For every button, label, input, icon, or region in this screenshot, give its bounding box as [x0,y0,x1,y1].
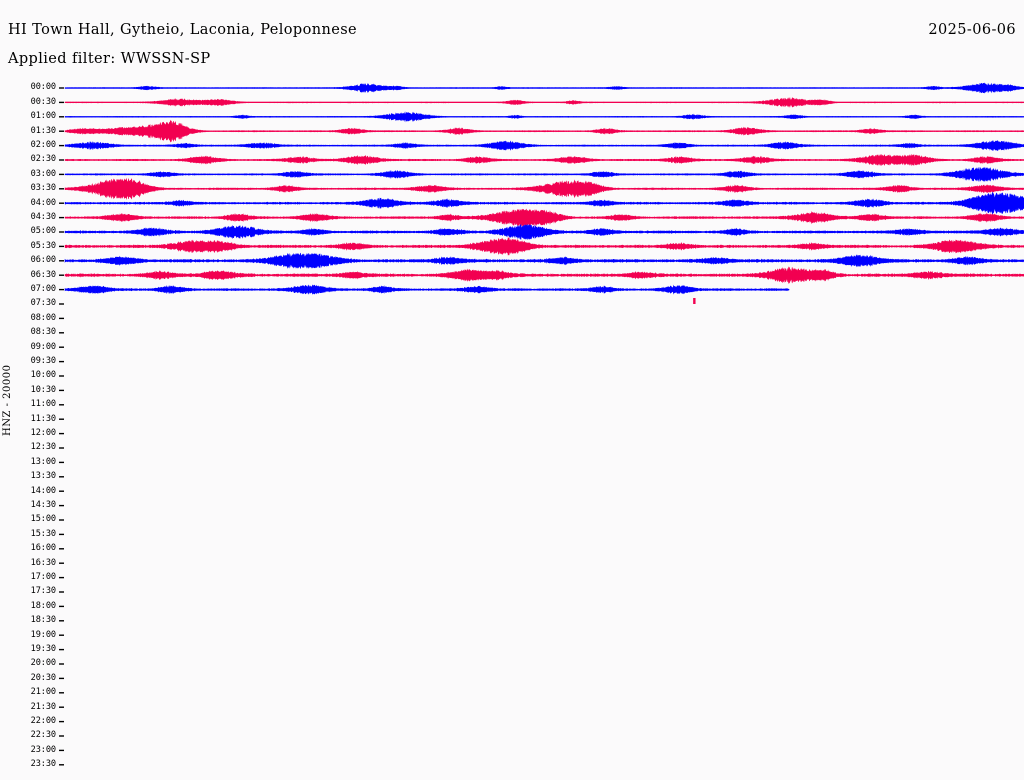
time-axis-label: 14:00 [22,487,56,496]
time-axis-label: 03:30 [22,184,56,193]
time-axis-label: 20:30 [22,674,56,683]
time-axis-label: 12:00 [22,429,56,438]
time-axis-label: 14:30 [22,501,56,510]
time-axis-label: 04:00 [22,199,56,208]
time-axis-label: 23:00 [22,746,56,755]
seismogram-traces [0,74,1024,774]
time-axis-label: 11:00 [22,400,56,409]
time-axis-label: 08:00 [22,314,56,323]
time-axis-label: 15:30 [22,530,56,539]
trace-artifact-marker [693,298,695,304]
helicorder-chart: HI Town Hall, Gytheio, Laconia, Peloponn… [0,0,1024,780]
time-axis-label: 16:00 [22,544,56,553]
time-axis-label: 10:30 [22,386,56,395]
time-axis-label: 10:00 [22,371,56,380]
time-axis-label: 23:30 [22,760,56,769]
plot-area: 00:0000:3001:0001:3002:0002:3003:0003:30… [0,74,1024,774]
time-axis-label: 01:00 [22,112,56,121]
time-axis-label: 05:00 [22,227,56,236]
time-axis-label: 19:30 [22,645,56,654]
time-axis-label: 04:30 [22,213,56,222]
time-axis-label: 18:30 [22,616,56,625]
time-axis-label: 01:30 [22,127,56,136]
time-axis-label: 07:00 [22,285,56,294]
time-axis-label: 05:30 [22,242,56,251]
page-title: HI Town Hall, Gytheio, Laconia, Peloponn… [8,22,357,38]
time-axis-label: 06:00 [22,256,56,265]
time-axis-label: 16:30 [22,559,56,568]
time-axis-label: 09:30 [22,357,56,366]
time-axis-label: 17:00 [22,573,56,582]
time-axis-label: 09:00 [22,343,56,352]
applied-filter-label: Applied filter: WWSSN-SP [8,51,211,67]
time-axis-label: 03:00 [22,170,56,179]
time-axis-label: 17:30 [22,587,56,596]
time-axis-label: 21:00 [22,688,56,697]
time-axis-label: 07:30 [22,299,56,308]
chart-date: 2025-06-06 [928,22,1016,38]
time-axis-label: 18:00 [22,602,56,611]
chart-header: HI Town Hall, Gytheio, Laconia, Peloponn… [0,0,1024,74]
time-axis-label: 02:00 [22,141,56,150]
time-axis-label: 20:00 [22,659,56,668]
time-axis-label: 21:30 [22,703,56,712]
time-axis-label: 13:00 [22,458,56,467]
time-axis-label: 22:30 [22,731,56,740]
time-axis-label: 12:30 [22,443,56,452]
time-axis-label: 11:30 [22,415,56,424]
time-axis-label: 13:30 [22,472,56,481]
time-axis-label: 22:00 [22,717,56,726]
time-axis-label: 15:00 [22,515,56,524]
time-axis-label: 19:00 [22,631,56,640]
time-axis-label: 00:30 [22,98,56,107]
time-axis-label: 02:30 [22,155,56,164]
time-axis-label: 00:00 [22,83,56,92]
time-axis-label: 06:30 [22,271,56,280]
time-axis-label: 08:30 [22,328,56,337]
